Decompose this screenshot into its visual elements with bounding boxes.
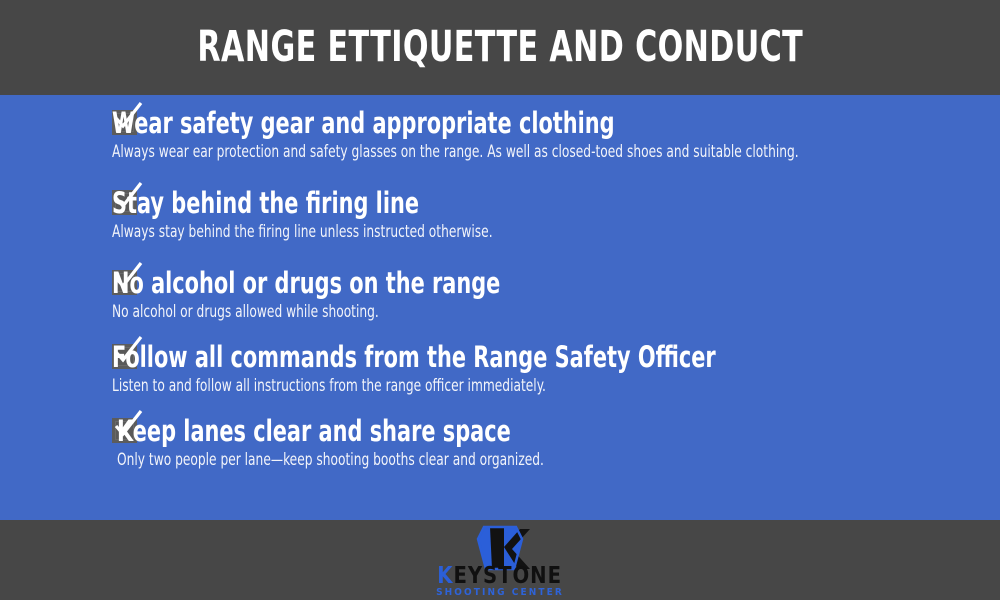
poster-header: RANGE ETTIQUETTE AND CONDUCT [0,0,1000,95]
rule-heading: Keep lanes clear and share space [117,416,823,446]
rule-heading: Stay behind the firing line [112,188,822,218]
list-item: Follow all commands from the Range Safet… [0,342,1000,396]
rules-list: Wear safety gear and appropriate clothin… [0,108,1000,470]
keystone-emblem-icon [454,525,546,568]
rule-detail: No alcohol or drugs allowed while shooti… [112,302,822,322]
rule-detail: Listen to and follow all instructions fr… [112,376,822,396]
rule-detail: Only two people per lane—keep shooting b… [117,450,823,470]
brand-initial: K [438,563,454,589]
brand-rest: EYSTONE [454,563,562,589]
rule-heading: Wear safety gear and appropriate clothin… [112,108,822,138]
rule-heading: No alcohol or drugs on the range [112,268,822,298]
rule-detail: Always stay behind the firing line unles… [112,222,822,242]
rule-detail: Always wear ear protection and safety gl… [112,142,822,162]
rule-heading: Follow all commands from the Range Safet… [112,342,822,372]
rules-section: Wear safety gear and appropriate clothin… [0,95,1000,520]
poster-root: RANGE ETTIQUETTE AND CONDUCT Wear safety… [0,0,1000,600]
page-title: RANGE ETTIQUETTE AND CONDUCT [197,26,803,69]
brand-logo: KEYSTONE SHOOTING CENTER [410,521,590,599]
list-item: No alcohol or drugs on the range No alco… [0,268,1000,322]
list-item: Keep lanes clear and share space Only tw… [0,416,1000,470]
list-item: Stay behind the firing line Always stay … [0,188,1000,242]
poster-footer: KEYSTONE SHOOTING CENTER [0,520,1000,600]
list-item: Wear safety gear and appropriate clothin… [0,108,1000,162]
brand-name: KEYSTONE [438,566,563,586]
